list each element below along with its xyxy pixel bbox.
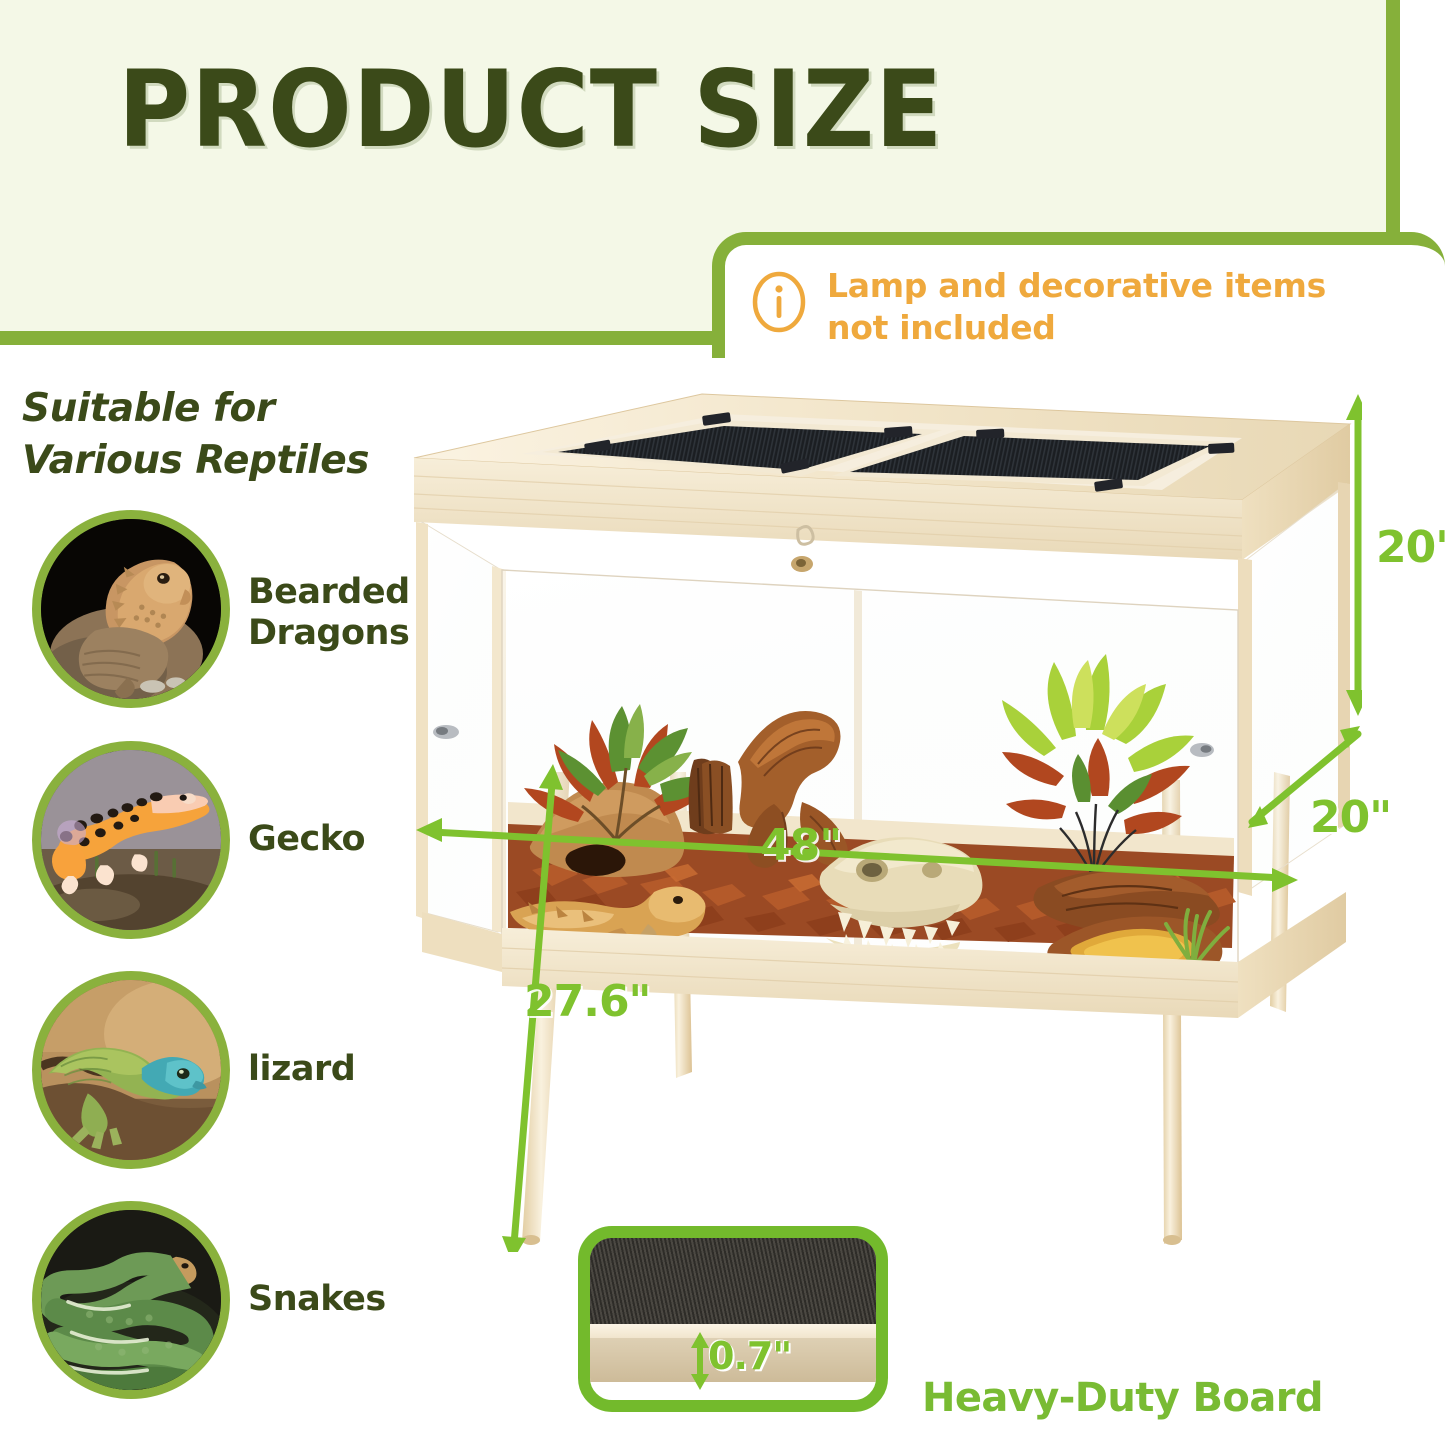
- list-item-label: Bearded Dragons: [248, 572, 410, 655]
- terrarium-drawing: [402, 372, 1362, 1252]
- leopard-gecko-photo: [41, 750, 221, 930]
- dim-width-label: 48": [760, 820, 841, 871]
- list-item: Gecko: [0, 741, 420, 941]
- top-frame: [414, 394, 1350, 560]
- label-line-2: Dragons: [248, 613, 410, 654]
- dim-height-label: 20": [1376, 522, 1445, 573]
- label-line-1: Bearded: [248, 572, 410, 613]
- snake-avatar: [32, 1201, 230, 1399]
- green-lizard-photo: [41, 980, 221, 1160]
- info-callout-line-1: Lamp and decorative items: [827, 265, 1326, 307]
- list-item: Bearded Dragons: [0, 510, 420, 710]
- info-callout: Lamp and decorative items not included: [712, 232, 1445, 358]
- page-title: PRODUCT SIZE: [118, 48, 943, 171]
- infographic-root: PRODUCT SIZE Lamp and decorative items n…: [0, 0, 1445, 1434]
- green-snake-photo: [41, 1210, 221, 1390]
- gecko-avatar: [32, 741, 230, 939]
- dim-depth-label: 20": [1310, 792, 1391, 843]
- list-item: Snakes: [0, 1201, 420, 1401]
- list-item: lizard: [0, 971, 420, 1171]
- list-item-label: lizard: [248, 1049, 355, 1090]
- list-item-label: Gecko: [248, 819, 365, 860]
- suitable-for-heading: Suitable for Various Reptiles: [22, 383, 369, 487]
- bearded-dragon-photo: [41, 519, 221, 699]
- dim-stand-height-label: 27.6": [524, 976, 650, 1027]
- product-illustration: 20" 20" 48" 27.6": [402, 372, 1362, 1252]
- list-item-label: Snakes: [248, 1279, 386, 1320]
- heavy-duty-board-caption: Heavy-Duty Board: [922, 1375, 1323, 1421]
- info-callout-line-2: not included: [827, 307, 1326, 349]
- board-mesh-surface: [590, 1238, 876, 1324]
- suitable-heading-line-1: Suitable for: [22, 383, 369, 435]
- suitable-heading-line-2: Various Reptiles: [22, 435, 369, 487]
- heavy-duty-board-callout: 0.7": [578, 1226, 888, 1412]
- lizard-avatar: [32, 971, 230, 1169]
- board-thickness-label: 0.7": [708, 1334, 791, 1378]
- bearded-dragon-avatar: [32, 510, 230, 708]
- info-circle-icon: [751, 271, 807, 333]
- bark-log: [689, 759, 733, 835]
- enclosure-body: [416, 482, 1350, 1018]
